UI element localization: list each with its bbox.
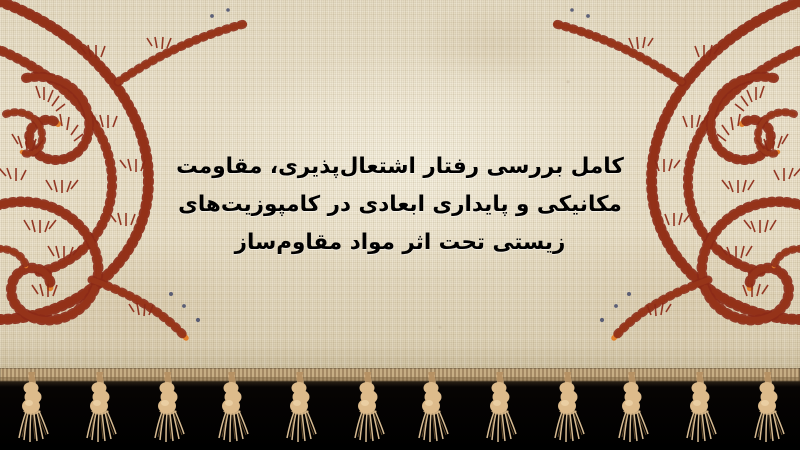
tassel bbox=[744, 372, 790, 450]
tassel bbox=[677, 372, 723, 450]
tassel bbox=[144, 372, 190, 450]
tassel bbox=[477, 372, 523, 450]
title-card-canvas: کامل بررسی رفتار اشتعال‌پذیری، مقاومت مک… bbox=[0, 0, 800, 450]
tassel bbox=[544, 372, 590, 450]
knotted-tassel-fringe bbox=[0, 368, 800, 450]
tassel bbox=[344, 372, 390, 450]
tassel bbox=[10, 372, 56, 450]
caption-line-3: زیستی تحت اثر مواد مقاوم‌ساز bbox=[0, 224, 800, 262]
title-caption: کامل بررسی رفتار اشتعال‌پذیری، مقاومت مک… bbox=[0, 148, 800, 262]
tassel bbox=[610, 372, 656, 450]
caption-line-2: مکانیکی و پایداری ابعادی در کامپوزیت‌های bbox=[0, 186, 800, 224]
tassel bbox=[77, 372, 123, 450]
caption-line-1: کامل بررسی رفتار اشتعال‌پذیری، مقاومت bbox=[0, 148, 800, 186]
tassel bbox=[410, 372, 456, 450]
tassel bbox=[277, 372, 323, 450]
tassel bbox=[210, 372, 256, 450]
